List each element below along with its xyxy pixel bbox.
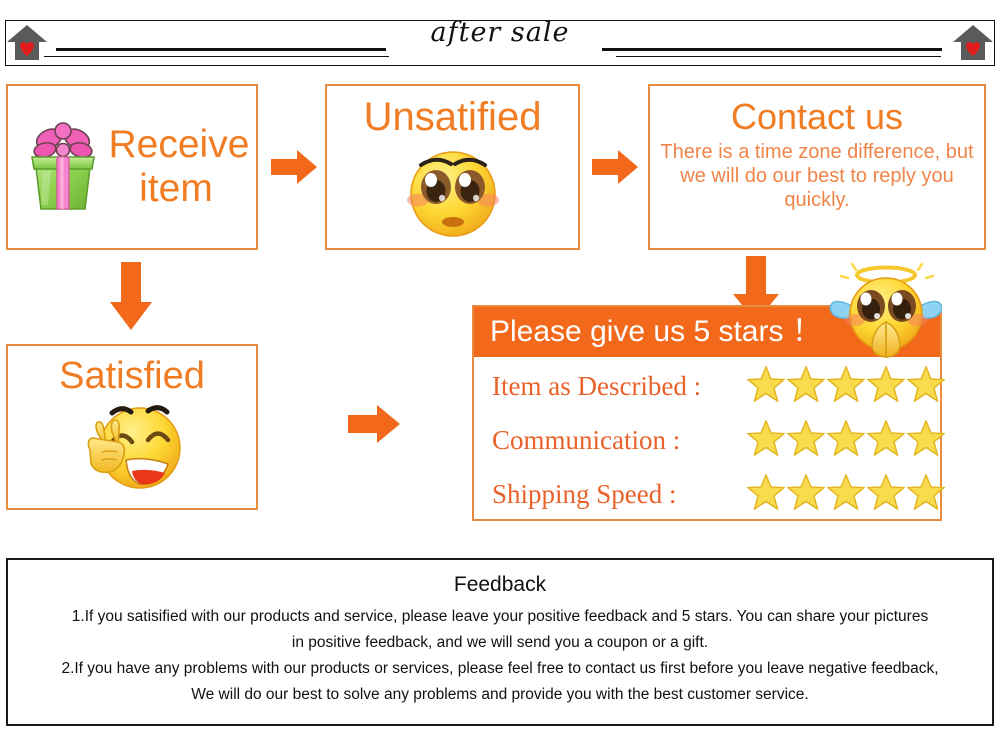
rating-row: Communication : (492, 413, 928, 467)
home-heart-icon (952, 22, 994, 64)
step-contact-us: Contact us There is a time zone differen… (648, 84, 986, 250)
star-icon[interactable] (747, 474, 785, 515)
star-icon[interactable] (907, 474, 945, 515)
feedback-body: 1.If you satisified with our products an… (8, 604, 992, 708)
arrow-right-icon (271, 148, 317, 186)
rating-row-stars[interactable] (747, 366, 945, 407)
feedback-line: in positive feedback, and we will send y… (8, 630, 992, 656)
rating-row: Item as Described : (492, 359, 928, 413)
rating-row: Shipping Speed : (492, 467, 928, 521)
arrow-down-icon (108, 262, 154, 330)
star-icon[interactable] (867, 366, 905, 407)
star-icon[interactable] (787, 474, 825, 515)
star-icon[interactable] (747, 420, 785, 461)
feedback-title: Feedback (8, 572, 992, 598)
feedback-line: 1.If you satisified with our products an… (8, 604, 992, 630)
star-icon[interactable] (867, 420, 905, 461)
arrow-right-icon (592, 148, 638, 186)
after-sale-infographic: after sale (0, 0, 1000, 746)
rating-row-label: Communication : (492, 425, 747, 456)
receive-item-label: Receive item (109, 123, 244, 211)
gift-box-icon (21, 117, 105, 218)
star-icon[interactable] (787, 420, 825, 461)
praying-angel-emoji (826, 262, 942, 358)
header-thin-rule-left (44, 56, 389, 57)
page-title: after sale (400, 18, 600, 48)
arrow-right-icon (348, 403, 400, 445)
rating-rows: Item as Described : Communication : (474, 357, 940, 519)
step-unsatisfied: Unsatified (325, 84, 580, 250)
unsatisfied-label: Unsatified (327, 94, 578, 140)
rating-row-stars[interactable] (747, 474, 945, 515)
star-icon[interactable] (907, 366, 945, 407)
home-heart-icon (6, 22, 48, 64)
rating-row-stars[interactable] (747, 420, 945, 461)
star-icon[interactable] (827, 366, 865, 407)
step-receive-item: Receive item (6, 84, 258, 250)
feedback-line: We will do our best to solve any problem… (8, 682, 992, 708)
satisfied-label: Satisfied (8, 354, 256, 398)
worried-face-emoji (327, 138, 578, 242)
contact-us-title: Contact us (650, 96, 984, 138)
feedback-panel: Feedback 1.If you satisified with our pr… (6, 558, 994, 726)
step-satisfied: Satisfied (6, 344, 258, 510)
rating-row-label: Shipping Speed : (492, 479, 747, 510)
star-icon[interactable] (907, 420, 945, 461)
header-thin-rule-right (616, 56, 941, 57)
star-icon[interactable] (827, 420, 865, 461)
contact-us-body: There is a time zone difference, but we … (650, 138, 984, 212)
rating-row-label: Item as Described : (492, 371, 747, 402)
feedback-line: 2.If you have any problems with our prod… (8, 656, 992, 682)
header-rule-right (602, 48, 942, 51)
header-rule-left (56, 48, 386, 51)
happy-face-peace-sign-emoji (8, 394, 256, 498)
star-icon[interactable] (787, 366, 825, 407)
star-icon[interactable] (827, 474, 865, 515)
star-icon[interactable] (747, 366, 785, 407)
star-icon[interactable] (867, 474, 905, 515)
